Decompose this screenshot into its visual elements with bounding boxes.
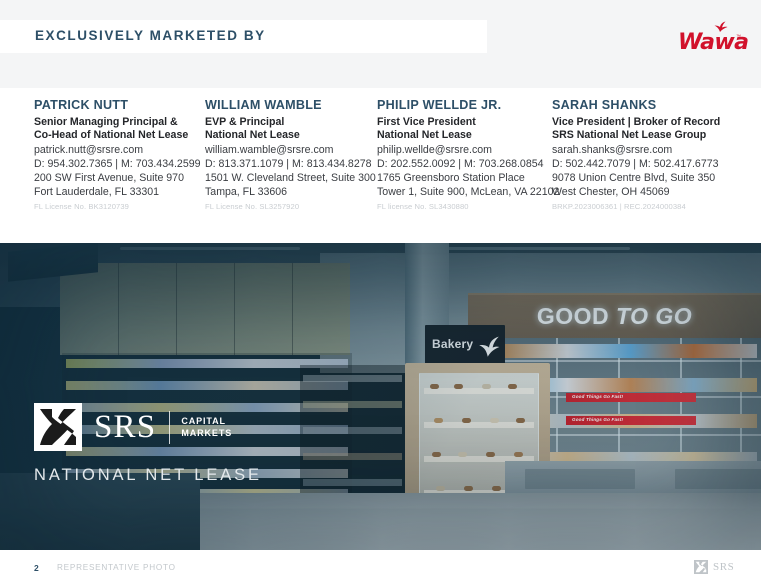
srs-subline-markets: MARKETS	[181, 427, 232, 439]
srs-subline-capital: CAPITAL	[181, 415, 232, 427]
contact-address-line2: Tampa, FL 33606	[205, 186, 377, 200]
contact-email[interactable]: patrick.nutt@srsre.com	[34, 144, 209, 158]
contact-address-line2: Fort Lauderdale, FL 33301	[34, 186, 209, 200]
photo-caption: REPRESENTATIVE PHOTO	[57, 563, 176, 572]
contact-card-2: WILLIAM WAMBLE EVP & Principal National …	[205, 98, 377, 212]
contact-name: SARAH SHANKS	[552, 98, 748, 113]
contact-address-line2: Tower 1, Suite 900, McLean, VA 22102	[377, 186, 552, 200]
contact-card-3: PHILIP WELLDE JR. First Vice President N…	[377, 98, 552, 212]
footer-srs-wordmark: SRS	[713, 560, 734, 574]
contact-phones[interactable]: D: 954.302.7365 | M: 703.434.2599	[34, 158, 209, 172]
contact-title-line2: National Net Lease	[377, 129, 552, 142]
srs-logo-divider	[169, 411, 170, 444]
contact-title: EVP & Principal National Net Lease	[205, 116, 377, 142]
contact-title: Vice President | Broker of Record SRS Na…	[552, 116, 748, 142]
page-title: EXCLUSIVELY MARKETED BY	[35, 28, 266, 44]
contact-title-line1: Senior Managing Principal &	[34, 116, 209, 129]
contact-title: First Vice President National Net Lease	[377, 116, 552, 142]
contact-address-line2: West Chester, OH 45069	[552, 186, 748, 200]
page-number: 2	[34, 563, 39, 573]
contact-title-line2: National Net Lease	[205, 129, 377, 142]
contact-name: WILLIAM WAMBLE	[205, 98, 377, 113]
contact-title: Senior Managing Principal & Co-Head of N…	[34, 116, 209, 142]
contact-name: PATRICK NUTT	[34, 98, 209, 113]
srs-logo-overlay: SRS CAPITAL MARKETS	[34, 403, 232, 451]
wawa-wordmark: Wawa	[678, 31, 740, 54]
contact-license: FL License No. BK3120739	[34, 201, 209, 212]
contact-phones[interactable]: D: 502.442.7079 | M: 502.417.6773	[552, 158, 748, 172]
srs-wordmark: SRS	[94, 410, 156, 444]
contact-title-line1: First Vice President	[377, 116, 552, 129]
page-header: EXCLUSIVELY MARKETED BY Wawa ™	[0, 0, 761, 88]
wawa-logo: Wawa ™	[678, 22, 740, 56]
contact-name: PHILIP WELLDE JR.	[377, 98, 552, 113]
srs-logo-subline: CAPITAL MARKETS	[181, 415, 232, 439]
page-footer: 2 REPRESENTATIVE PHOTO SRS	[0, 550, 761, 588]
photo-vignette	[0, 243, 761, 550]
contact-license: FL license No. SL3430880	[377, 201, 552, 212]
contact-license: FL License No. SL3257920	[205, 201, 377, 212]
contact-address-line1: 1501 W. Cleveland Street, Suite 300	[205, 172, 377, 186]
contact-title-line2: SRS National Net Lease Group	[552, 129, 748, 142]
contact-address-line1: 200 SW First Avenue, Suite 970	[34, 172, 209, 186]
contact-title-line1: Vice President | Broker of Record	[552, 116, 748, 129]
national-net-lease-tagline: NATIONAL NET LEASE	[34, 465, 262, 485]
contacts-section: PATRICK NUTT Senior Managing Principal &…	[0, 88, 761, 243]
footer-srs-mark-icon	[694, 560, 708, 574]
contact-title-line2: Co-Head of National Net Lease	[34, 129, 209, 142]
contact-license: BRKP.2023006361 | REC.2024000384	[552, 201, 748, 212]
contact-card-4: SARAH SHANKS Vice President | Broker of …	[552, 98, 748, 212]
store-photo: GOOD TO GO Bakery	[0, 243, 761, 550]
contact-phones[interactable]: D: 813.371.1079 | M: 813.434.8278	[205, 158, 377, 172]
contact-email[interactable]: philip.wellde@srsre.com	[377, 144, 552, 158]
footer-srs-logo: SRS	[694, 560, 734, 574]
contact-email[interactable]: sarah.shanks@srsre.com	[552, 144, 748, 158]
contact-address-line1: 9078 Union Centre Blvd, Suite 350	[552, 172, 748, 186]
contact-phones[interactable]: D: 202.552.0092 | M: 703.268.0854	[377, 158, 552, 172]
srs-mark-icon	[34, 403, 82, 451]
contact-address-line1: 1765 Greensboro Station Place	[377, 172, 552, 186]
contact-email[interactable]: william.wamble@srsre.com	[205, 144, 377, 158]
contact-title-line1: EVP & Principal	[205, 116, 377, 129]
contact-card-1: PATRICK NUTT Senior Managing Principal &…	[34, 98, 209, 212]
brochure-page: EXCLUSIVELY MARKETED BY Wawa ™ PATRICK N…	[0, 0, 761, 588]
wawa-trademark: ™	[736, 34, 741, 40]
